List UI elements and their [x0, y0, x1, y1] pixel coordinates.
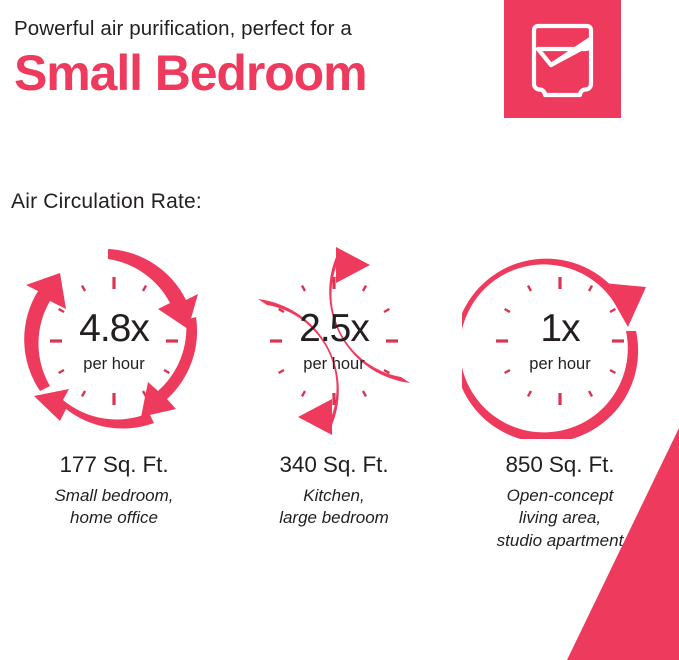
dial-unit: per hour	[303, 356, 364, 373]
dial-rate: 1x	[540, 309, 579, 348]
caption-area: 850 Sq. Ft.	[497, 451, 624, 478]
caption-description: Small bedroom, home office	[54, 485, 173, 530]
caption-area: 340 Sq. Ft.	[279, 451, 389, 478]
caption-description: Open-concept living area, studio apartme…	[497, 485, 624, 552]
header-kicker: Powerful air purification, perfect for a	[14, 16, 494, 42]
circulation-dials: 4.8x per hour 177 Sq. Ft. Small bedroom,…	[0, 243, 679, 552]
dial-caption-850: 850 Sq. Ft. Open-concept living area, st…	[497, 451, 624, 552]
dial-card-340: 2.5x per hour 340 Sq. Ft. Kitchen, large…	[224, 243, 444, 552]
bed-icon	[504, 0, 621, 118]
dial-unit: per hour	[83, 356, 144, 373]
dial-center-2-5x: 2.5x per hour	[236, 243, 432, 439]
dial-1x: 1x per hour	[462, 243, 658, 439]
section-label: Air Circulation Rate:	[11, 190, 202, 214]
header: Powerful air purification, perfect for a…	[14, 16, 494, 100]
dial-unit: per hour	[529, 356, 590, 373]
caption-description: Kitchen, large bedroom	[279, 485, 389, 530]
dial-rate: 2.5x	[299, 309, 369, 348]
dial-center-4-8x: 4.8x per hour	[16, 243, 212, 439]
dial-center-1x: 1x per hour	[462, 243, 658, 439]
dial-caption-177: 177 Sq. Ft. Small bedroom, home office	[54, 451, 173, 530]
dial-card-177: 4.8x per hour 177 Sq. Ft. Small bedroom,…	[4, 243, 224, 552]
dial-caption-340: 340 Sq. Ft. Kitchen, large bedroom	[279, 451, 389, 530]
dial-card-850: 1x per hour 850 Sq. Ft. Open-concept liv…	[450, 243, 670, 552]
bed-badge	[504, 0, 621, 118]
caption-area: 177 Sq. Ft.	[54, 451, 173, 478]
dial-4-8x: 4.8x per hour	[16, 243, 212, 439]
page-title: Small Bedroom	[14, 46, 494, 100]
dial-2-5x: 2.5x per hour	[236, 243, 432, 439]
dial-rate: 4.8x	[79, 309, 149, 348]
